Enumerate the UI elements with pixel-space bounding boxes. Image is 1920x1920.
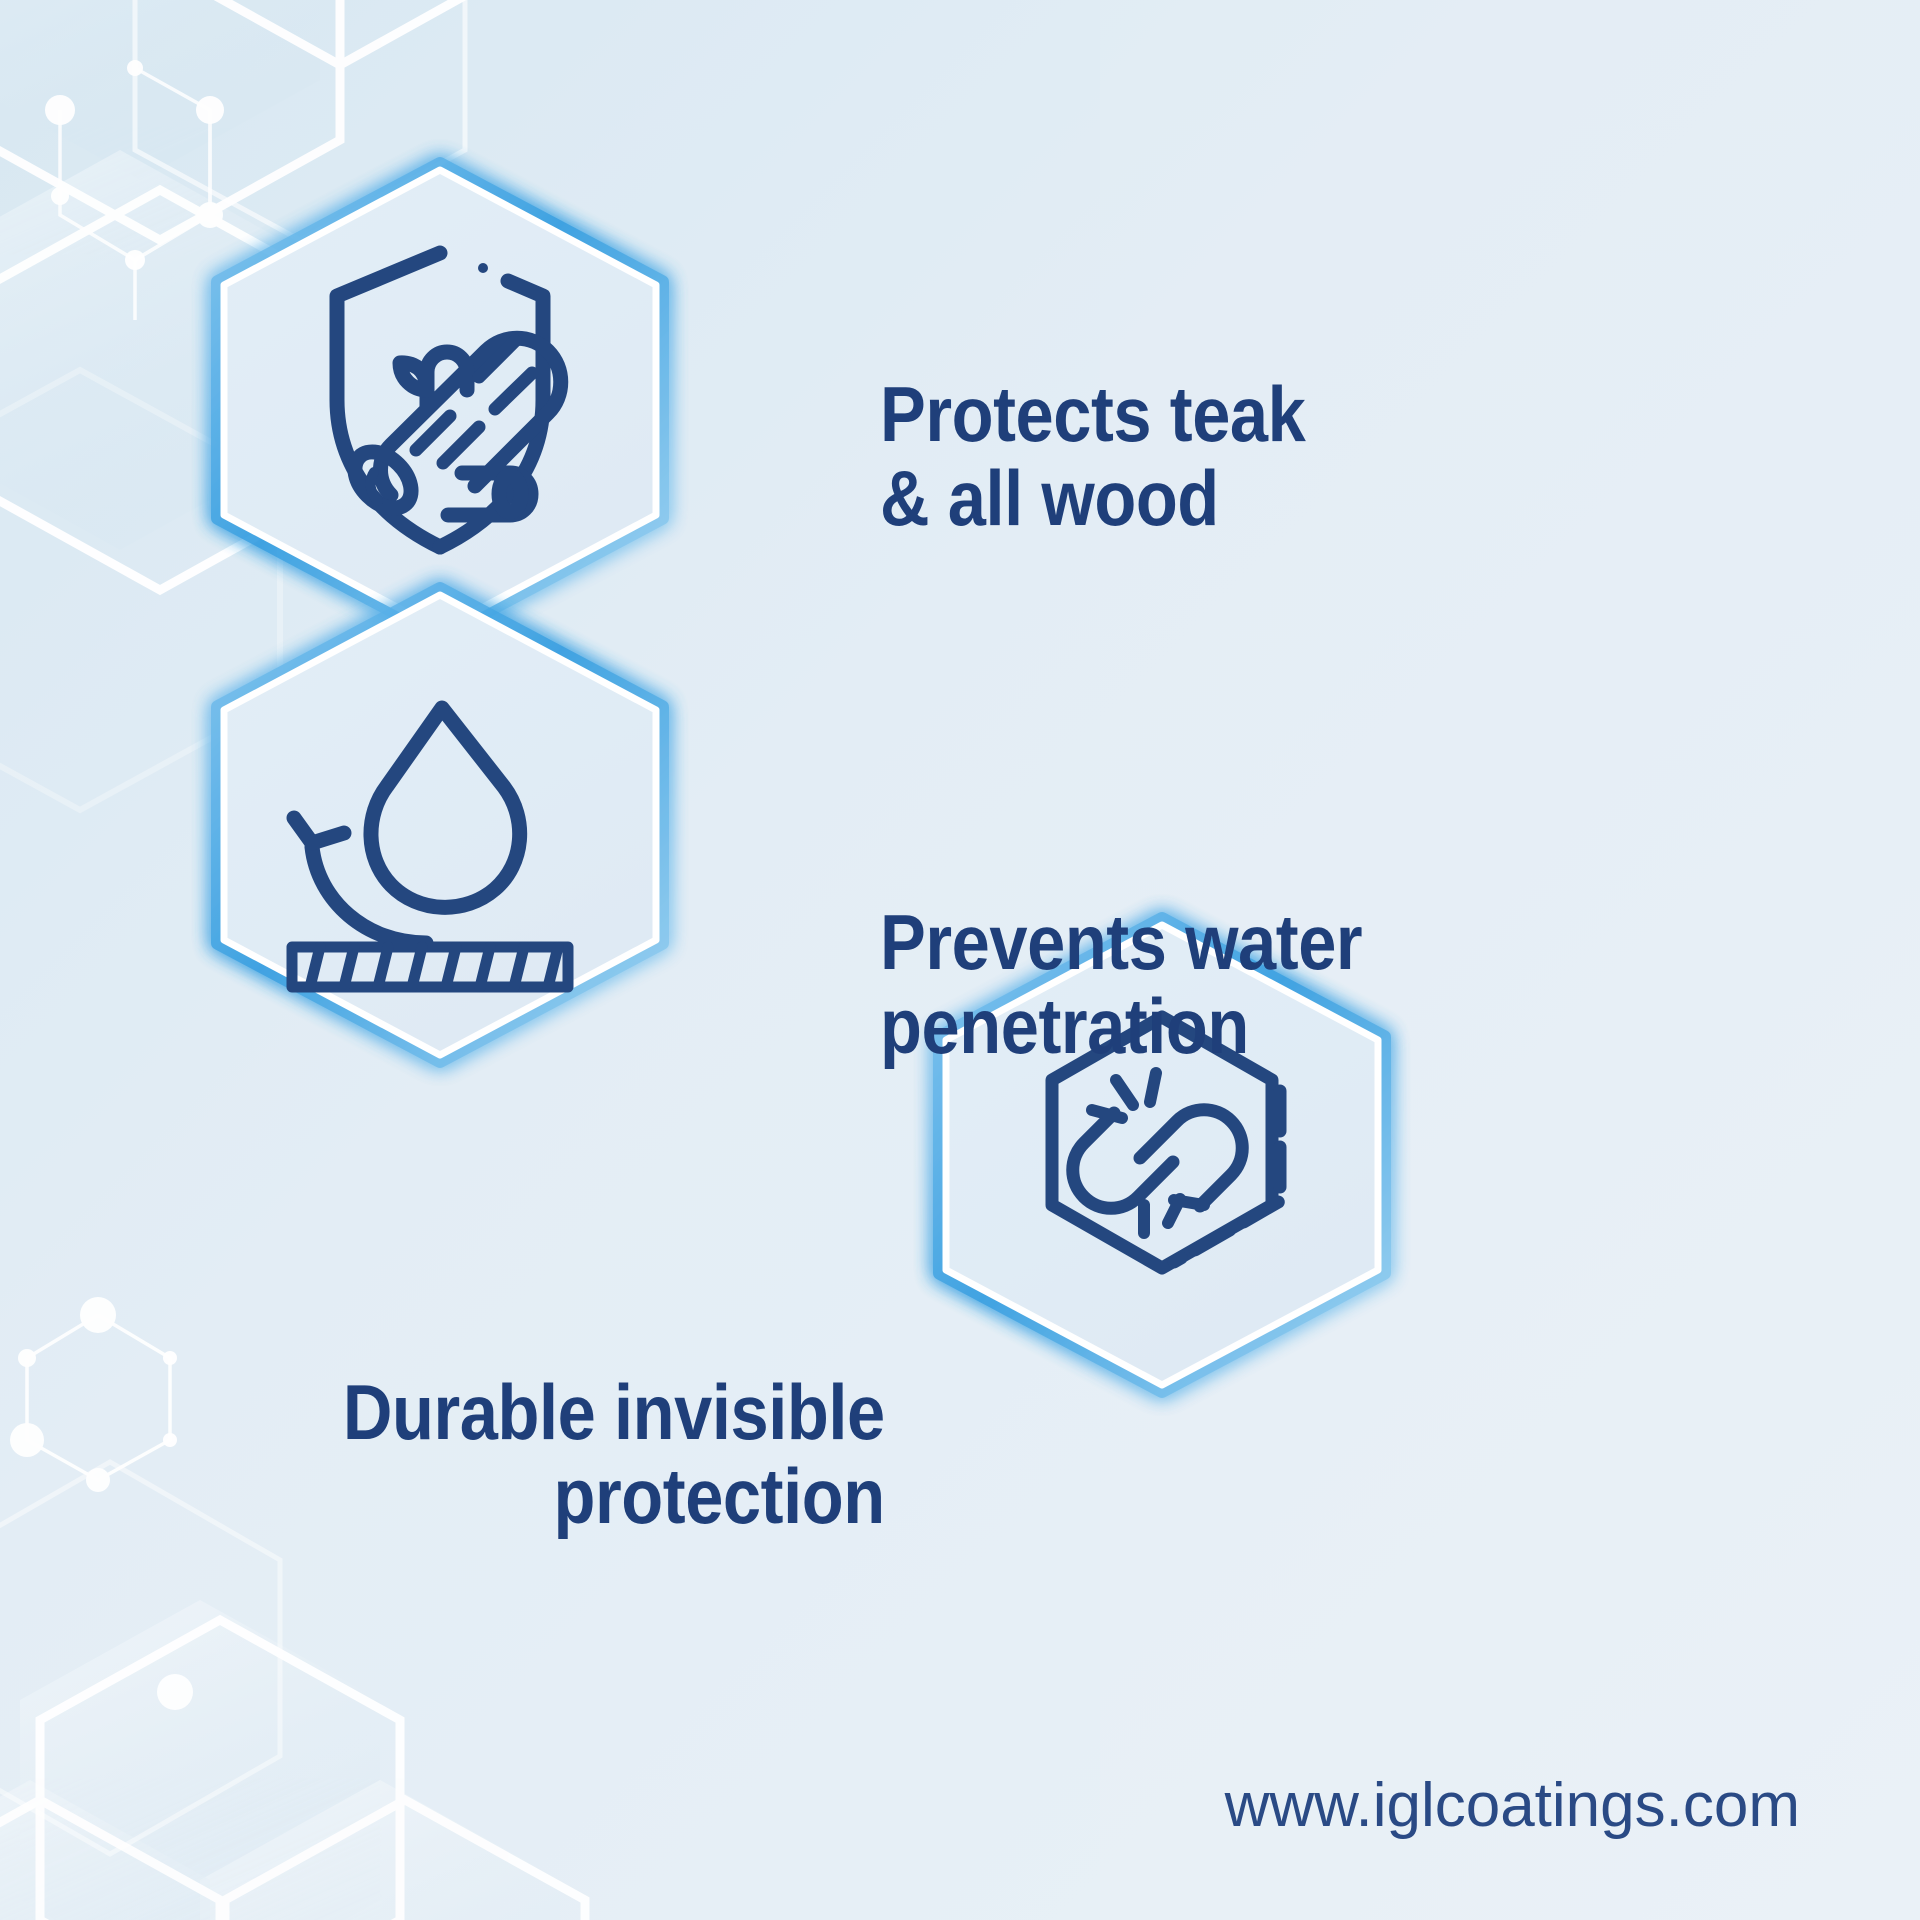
caption-line: & all wood — [880, 456, 1305, 540]
feature-hex-card-prevents-water[interactable] — [190, 575, 690, 1045]
feature-caption-protects-teak: Protects teak & all wood — [880, 372, 1305, 540]
caption-line: penetration — [880, 984, 1362, 1068]
feature-caption-durable-invisible: Durable invisible protection — [343, 1370, 885, 1538]
poster-canvas: Protects teak & all wood Prevents water … — [0, 0, 1920, 1920]
caption-line: Prevents water — [880, 900, 1362, 984]
caption-line: Durable invisible — [343, 1370, 885, 1454]
caption-line: Protects teak — [880, 372, 1305, 456]
feature-caption-prevents-water: Prevents water penetration — [880, 900, 1362, 1068]
caption-line: protection — [343, 1454, 885, 1538]
website-url[interactable]: www.iglcoatings.com — [1225, 1770, 1800, 1841]
feature-hex-card-protects-teak[interactable] — [190, 150, 690, 620]
